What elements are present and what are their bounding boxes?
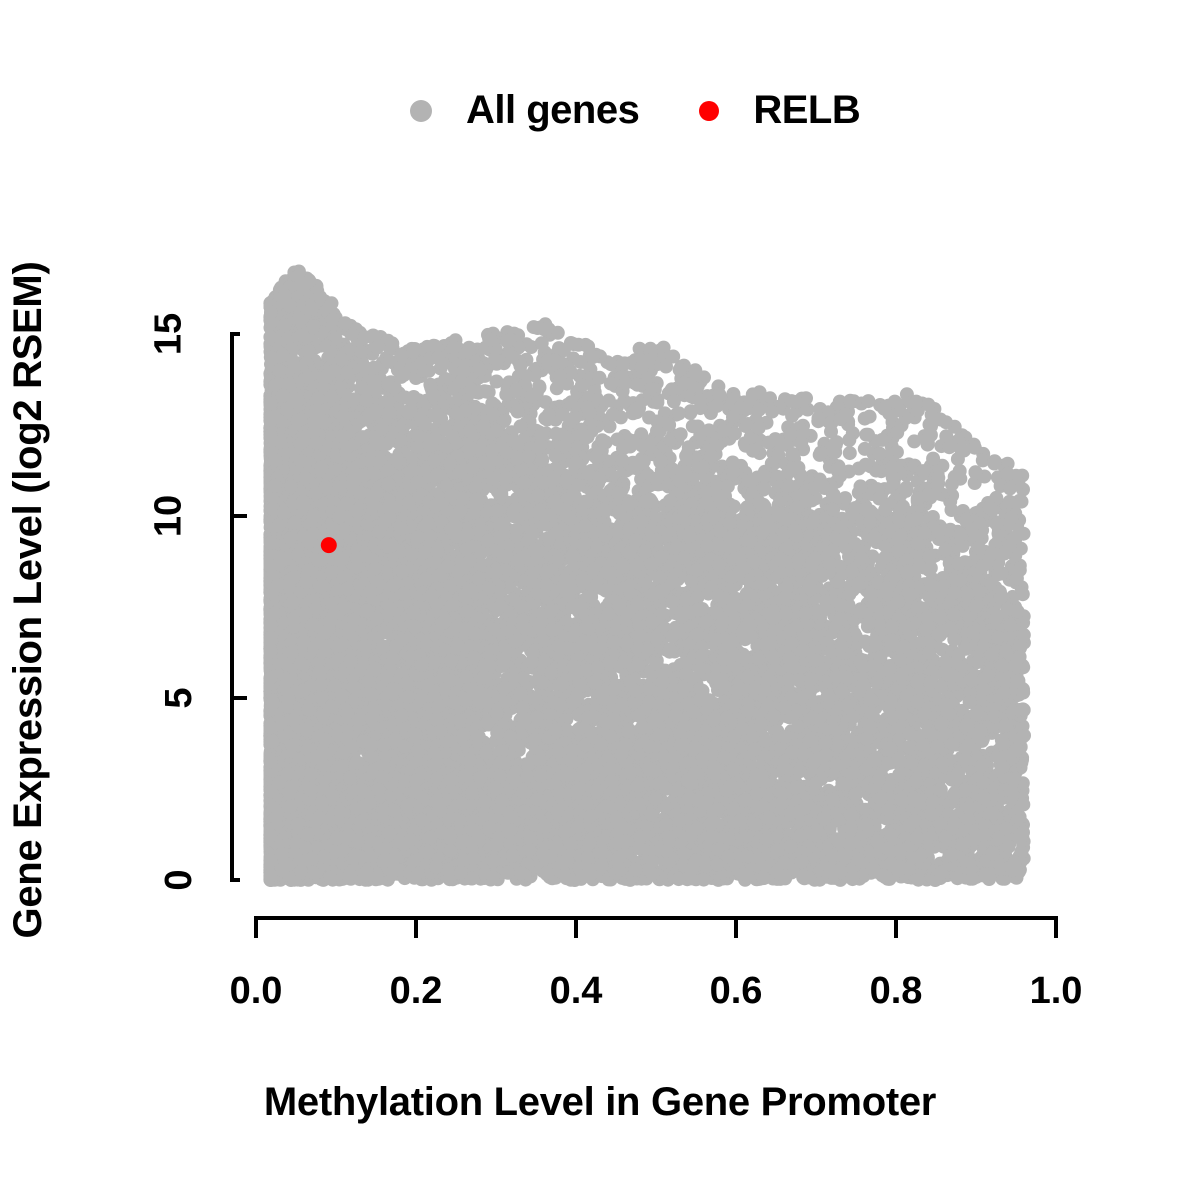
y-tick-label-2: 10: [147, 495, 190, 537]
scatter-canvas: [0, 0, 1200, 1200]
y-axis-title: Gene Expression Level (log2 RSEM): [0, 0, 56, 1200]
x-tick-label-0: 0.0: [230, 970, 283, 1013]
legend-label-all-genes: All genes: [466, 88, 639, 133]
y-tick-label-1: 5: [158, 687, 201, 708]
x-tick-label-2: 0.4: [550, 970, 603, 1013]
legend: All genes RELB: [410, 88, 860, 133]
scatter-plot-figure: All genes RELB Methylation Level in Gene…: [0, 0, 1200, 1200]
y-tick-label-3: 15: [147, 313, 190, 355]
highlight-point-relb: [321, 537, 337, 553]
legend-entry-relb: RELB: [699, 88, 860, 133]
legend-marker-relb-icon: [699, 101, 719, 121]
x-axis-title: Methylation Level in Gene Promoter: [0, 1080, 1200, 1125]
highlight-points-layer: [321, 537, 337, 553]
x-tick-label-4: 0.8: [870, 970, 923, 1013]
legend-entry-all-genes: All genes: [410, 88, 639, 133]
x-tick-label-1: 0.2: [390, 970, 443, 1013]
legend-marker-all-genes-icon: [410, 100, 432, 122]
y-tick-label-0: 0: [158, 869, 201, 890]
x-tick-label-5: 1.0: [1030, 970, 1083, 1013]
legend-label-relb: RELB: [753, 88, 860, 133]
x-tick-label-3: 0.6: [710, 970, 763, 1013]
